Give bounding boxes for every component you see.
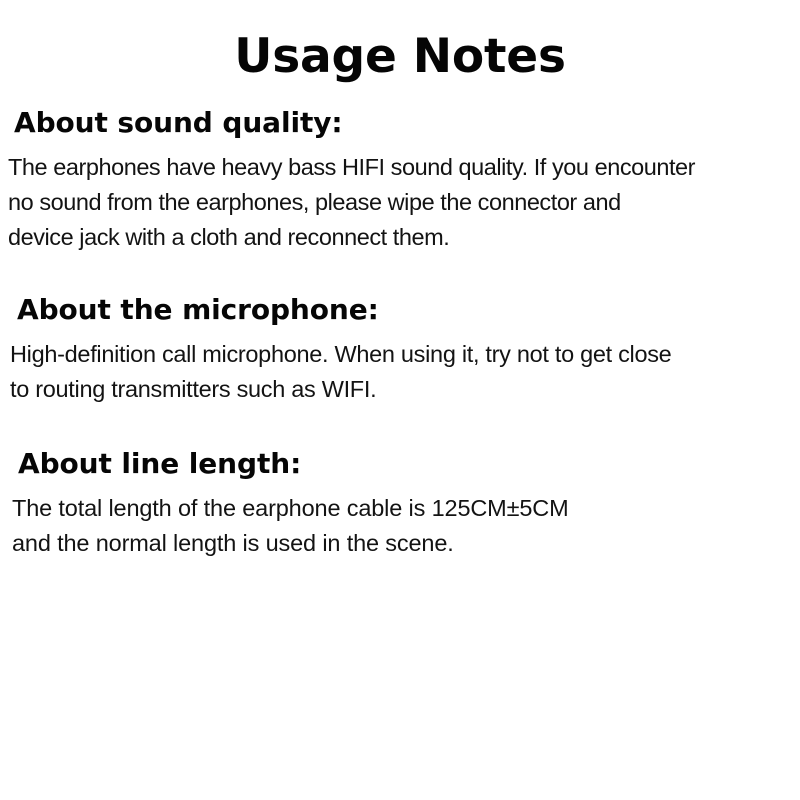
section-heading-microphone: About the microphone:	[0, 291, 800, 329]
section-heading-sound-quality: About sound quality:	[0, 104, 800, 142]
section-body-line-length: The total length of the earphone cable i…	[0, 491, 800, 561]
body-line: The total length of the earphone cable i…	[12, 491, 798, 526]
section-heading-line-length: About line length:	[0, 445, 800, 483]
usage-notes-page: Usage Notes About sound quality: The ear…	[0, 0, 800, 800]
section-sound-quality: About sound quality: The earphones have …	[0, 104, 800, 255]
body-line: to routing transmitters such as WIFI.	[10, 372, 798, 407]
body-line: device jack with a cloth and reconnect t…	[8, 220, 798, 255]
section-body-microphone: High-definition call microphone. When us…	[0, 337, 800, 407]
section-line-length: About line length: The total length of t…	[0, 445, 800, 561]
body-line: The earphones have heavy bass HIFI sound…	[8, 150, 798, 185]
body-line: no sound from the earphones, please wipe…	[8, 185, 798, 220]
sections-container: About sound quality: The earphones have …	[0, 104, 800, 561]
section-body-sound-quality: The earphones have heavy bass HIFI sound…	[0, 150, 800, 255]
section-microphone: About the microphone: High-definition ca…	[0, 291, 800, 407]
body-line: and the normal length is used in the sce…	[12, 526, 798, 561]
body-line: High-definition call microphone. When us…	[10, 337, 798, 372]
page-title: Usage Notes	[0, 28, 800, 86]
